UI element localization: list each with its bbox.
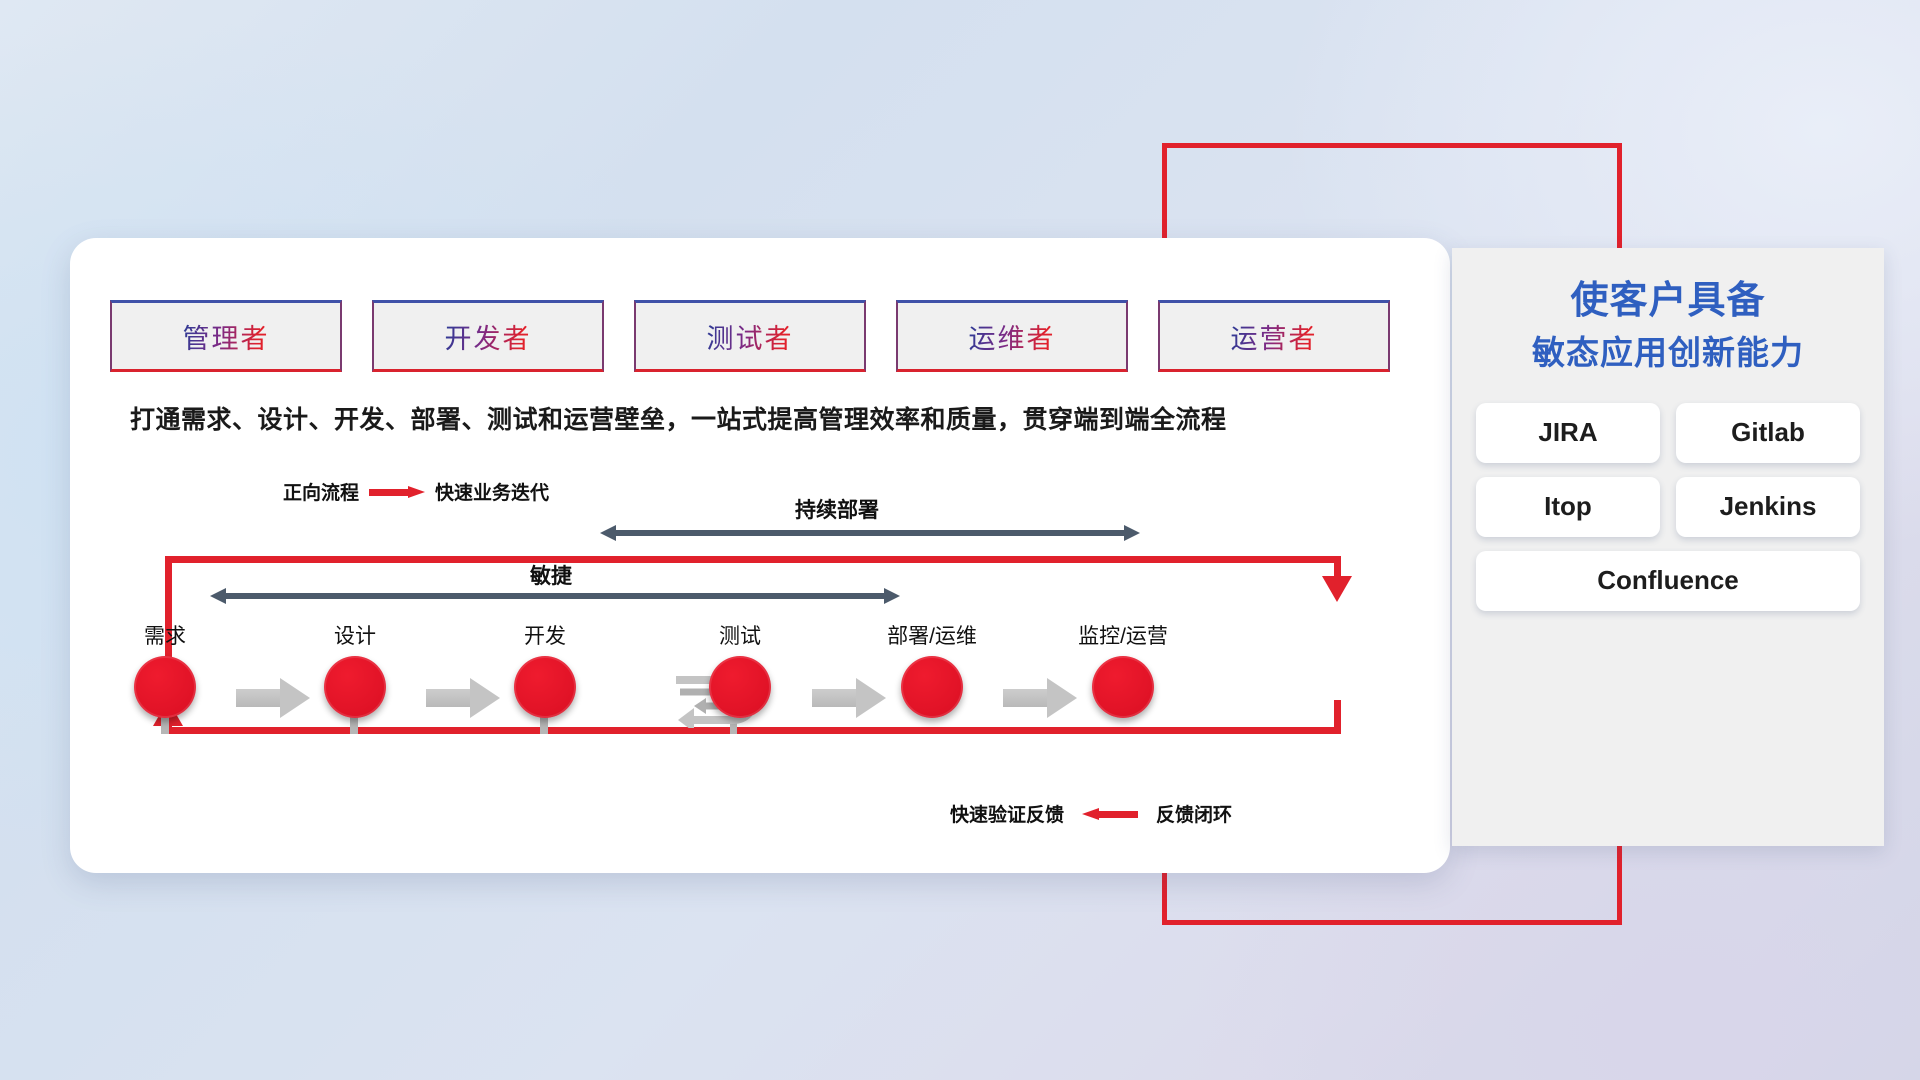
span-label-continuous-deployment: 持续部署 (795, 494, 879, 524)
stage-design[interactable]: 设计 (290, 620, 420, 718)
stage-test[interactable]: 测试 (675, 620, 805, 718)
stage-label: 设计 (290, 620, 420, 650)
connector-top-line (1162, 143, 1622, 148)
headline-text: 打通需求、设计、开发、部署、测试和运营壁垒，一站式提高管理效率和质量，贯穿端到端… (130, 400, 1430, 436)
tool-pill-list: JIRA Gitlab Itop Jenkins Confluence (1476, 403, 1860, 611)
legend-forward-flow: 正向流程 快速业务迭代 (283, 478, 549, 505)
stage-label: 部署/运维 (867, 620, 997, 650)
legend-forward-source-label: 正向流程 (283, 478, 359, 505)
pipeline-stage-row: 需求 设计 开发 测试 部署/运 (100, 620, 1400, 740)
slide-canvas: 管理者 开发者 测试者 运维者 运营者 打通需求、设计、开发、部署、测试和运营壁… (0, 0, 1920, 1080)
tool-pill-confluence[interactable]: Confluence (1476, 551, 1860, 611)
feedback-loop-right (1334, 556, 1341, 578)
role-label: 管理者 (183, 317, 270, 356)
role-box-developer[interactable]: 开发者 (372, 300, 604, 372)
span-label-agile: 敏捷 (530, 560, 572, 590)
legend-forward-target-label: 快速业务迭代 (435, 478, 549, 505)
role-label: 测试者 (707, 317, 794, 356)
role-label: 运营者 (1231, 317, 1318, 356)
legend-feedback-source-label: 反馈闭环 (1156, 800, 1232, 827)
stage-dot-icon (134, 656, 196, 718)
connector-left-upper (1162, 143, 1167, 253)
role-label: 运维者 (969, 317, 1056, 356)
stage-dot-icon (1092, 656, 1154, 718)
tool-pill-jenkins[interactable]: Jenkins (1676, 477, 1860, 537)
stage-dot-icon (324, 656, 386, 718)
stage-monitor-operation[interactable]: 监控/运营 (1058, 620, 1188, 718)
role-box-tester[interactable]: 测试者 (634, 300, 866, 372)
feedback-loop-arrow-down-icon (1322, 576, 1352, 602)
stage-deploy-ops[interactable]: 部署/运维 (867, 620, 997, 718)
legend-feedback-loop: 快速验证反馈 反馈闭环 (950, 800, 1232, 827)
panel-title-line2: 敏态应用创新能力 (1476, 329, 1860, 377)
connector-bottom-line (1162, 920, 1622, 925)
arrow-right-red-icon (369, 486, 425, 498)
arrow-left-red-icon (1082, 808, 1138, 820)
stage-label: 监控/运营 (1058, 620, 1188, 650)
role-box-row: 管理者 开发者 测试者 运维者 运营者 (110, 300, 1390, 372)
feedback-loop-top (165, 556, 1341, 563)
stage-label: 开发 (480, 620, 610, 650)
panel-title-line1: 使客户具备 (1476, 274, 1860, 329)
role-label: 开发者 (445, 317, 532, 356)
stage-requirement[interactable]: 需求 (100, 620, 230, 718)
legend-feedback-target-label: 快速验证反馈 (950, 800, 1064, 827)
stage-develop[interactable]: 开发 (480, 620, 610, 718)
stage-label: 需求 (100, 620, 230, 650)
stage-dot-icon (901, 656, 963, 718)
stage-label: 测试 (675, 620, 805, 650)
tool-pill-gitlab[interactable]: Gitlab (1676, 403, 1860, 463)
stage-dot-icon (514, 656, 576, 718)
role-box-manager[interactable]: 管理者 (110, 300, 342, 372)
tool-pill-jira[interactable]: JIRA (1476, 403, 1660, 463)
toolchain-panel: 使客户具备 敏态应用创新能力 JIRA Gitlab Itop Jenkins … (1452, 248, 1884, 846)
tool-pill-itop[interactable]: Itop (1476, 477, 1660, 537)
role-box-ops[interactable]: 运维者 (896, 300, 1128, 372)
role-box-operator[interactable]: 运营者 (1158, 300, 1390, 372)
double-arrow-continuous-deployment-icon (600, 525, 1140, 541)
stage-dot-icon (709, 656, 771, 718)
double-arrow-agile-icon (210, 588, 900, 604)
